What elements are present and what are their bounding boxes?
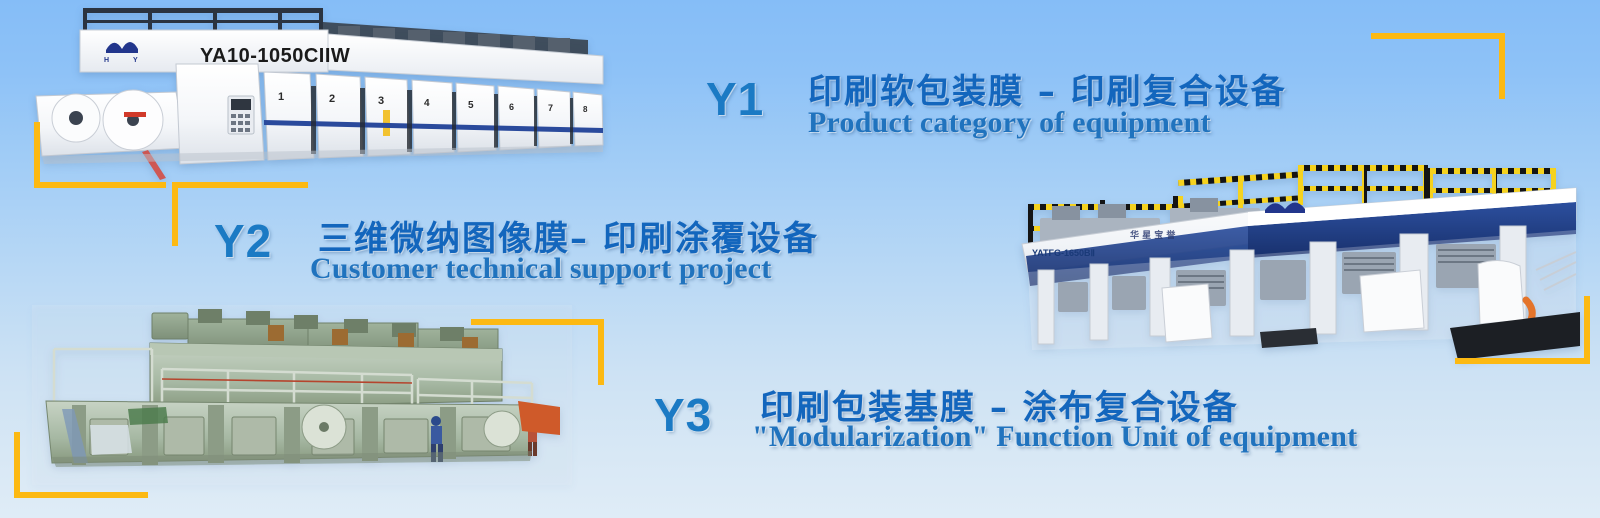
svg-text:8: 8 xyxy=(583,105,588,114)
bracket-left-horizontal-1 xyxy=(34,182,166,188)
machine-image-rotogravure-printing-press: H Y YA10-1050CIIW xyxy=(28,0,608,182)
svg-text:2: 2 xyxy=(329,93,335,105)
svg-text:H: H xyxy=(104,57,109,64)
bracket-mid-horizontal-3 xyxy=(471,319,604,325)
svg-text:6: 6 xyxy=(509,102,514,112)
svg-text:Y: Y xyxy=(133,57,138,64)
bracket-top-right-horizontal xyxy=(1371,33,1505,39)
svg-text:4: 4 xyxy=(424,98,430,109)
bracket-left-vertical-1 xyxy=(34,122,40,186)
svg-text:3: 3 xyxy=(378,95,384,107)
bracket-step-vertical-2 xyxy=(172,182,178,246)
svg-text:1: 1 xyxy=(278,91,284,103)
bracket-bottom-vertical-4 xyxy=(14,432,20,498)
row-code-y1: Y1 xyxy=(706,72,764,126)
svg-text:华 星 宝 誉: 华 星 宝 誉 xyxy=(1130,229,1176,241)
bracket-mid-vertical-3 xyxy=(598,319,604,385)
row-subtitle-en-y1: Product category of equipment xyxy=(808,106,1211,140)
bracket-bottom-horizontal-4 xyxy=(14,492,148,498)
row-subtitle-en-y2: Customer technical support project xyxy=(310,252,771,286)
bracket-top-right-vertical xyxy=(1499,33,1505,99)
row-subtitle-en-y3: "Modularization" Function Unit of equipm… xyxy=(752,420,1357,454)
product-category-banner: H Y YA10-1050CIIW xyxy=(0,0,1600,518)
bracket-right-horizontal xyxy=(1455,358,1590,364)
row-code-y2: Y2 xyxy=(214,214,272,268)
row-code-y3: Y3 xyxy=(654,388,712,442)
svg-text:5: 5 xyxy=(468,100,474,111)
machine-image-base-film-coating-line xyxy=(32,305,572,485)
machine-image-coating-laminating-machine: 华 星 宝 誉 YATFG-1650BⅡ xyxy=(980,160,1580,375)
svg-text:7: 7 xyxy=(548,103,553,113)
bracket-step-horizontal-2 xyxy=(172,182,308,188)
machine-2-model-text: YATFG-1650BⅡ xyxy=(1032,248,1095,258)
bracket-right-vertical xyxy=(1584,296,1590,364)
